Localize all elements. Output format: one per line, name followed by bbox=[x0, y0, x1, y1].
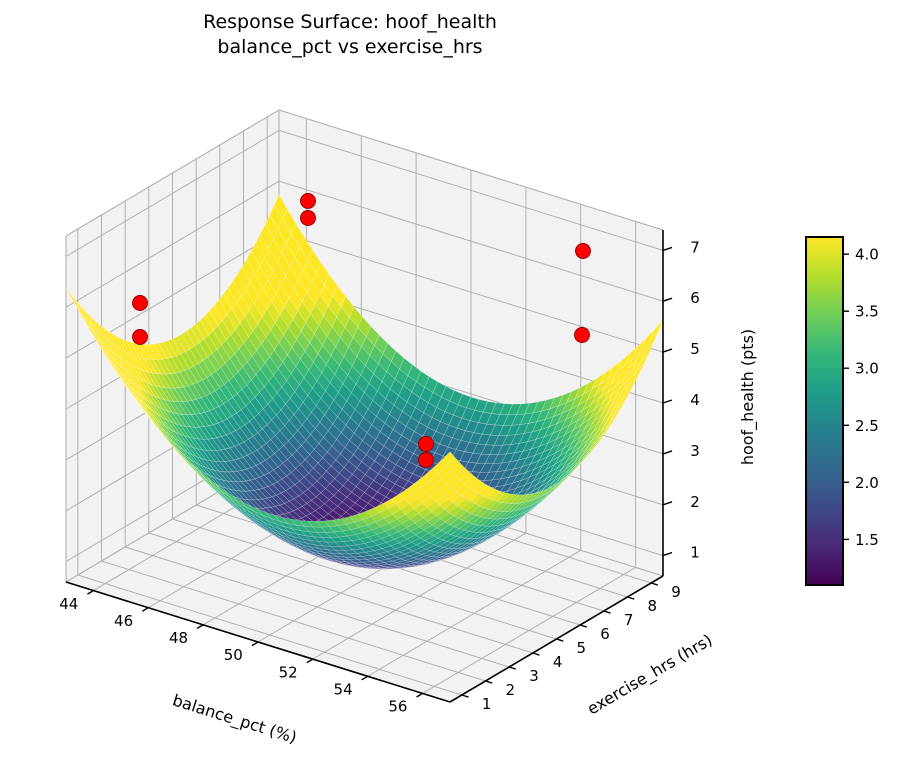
y-tick-label: 6 bbox=[600, 625, 610, 643]
y-tick-label: 2 bbox=[506, 681, 516, 699]
z-tick-label: 3 bbox=[690, 442, 700, 460]
x-tick-label: 46 bbox=[114, 612, 133, 630]
x-tick-label: 50 bbox=[224, 646, 243, 664]
z-tick bbox=[663, 502, 672, 505]
colorbar-tick-label: 2.5 bbox=[855, 417, 879, 435]
x-tick bbox=[417, 693, 423, 697]
scatter-point[interactable] bbox=[133, 330, 148, 345]
x-axis-label: balance_pct (%) bbox=[170, 690, 299, 748]
x-tick bbox=[307, 659, 313, 663]
y-tick-label: 4 bbox=[553, 653, 563, 671]
y-tick-label: 8 bbox=[648, 597, 658, 615]
scatter-point[interactable] bbox=[575, 328, 590, 343]
z-tick-label: 2 bbox=[690, 493, 700, 511]
x-tick bbox=[197, 625, 203, 629]
x-tick-label: 56 bbox=[388, 698, 407, 716]
x-tick-label: 44 bbox=[59, 595, 78, 613]
colorbar-tick-label: 3.5 bbox=[855, 303, 879, 321]
colorbar-tick-label: 4.0 bbox=[855, 246, 879, 264]
scatter-point[interactable] bbox=[419, 437, 434, 452]
scatter-point[interactable] bbox=[301, 211, 316, 226]
z-tick bbox=[663, 247, 672, 250]
y-tick bbox=[604, 611, 611, 613]
colorbar[interactable] bbox=[806, 237, 843, 585]
z-tick-label: 4 bbox=[690, 391, 700, 409]
y-tick bbox=[580, 625, 587, 627]
x-tick-label: 48 bbox=[169, 629, 188, 647]
colorbar-tick-label: 2.0 bbox=[855, 474, 879, 492]
y-axis-label: exercise_hrs (hrs) bbox=[584, 630, 716, 719]
colorbar-tick-label: 1.5 bbox=[855, 531, 879, 549]
z-tick bbox=[663, 298, 672, 301]
colorbar-tick-label: 3.0 bbox=[855, 360, 879, 378]
z-axis-label: hoof_health (pts) bbox=[738, 329, 758, 465]
scatter-point[interactable] bbox=[133, 296, 148, 311]
y-tick-label: 9 bbox=[671, 583, 681, 601]
y-tick bbox=[509, 667, 516, 669]
x-tick bbox=[362, 676, 368, 680]
y-tick-label: 1 bbox=[482, 695, 492, 713]
y-tick bbox=[533, 653, 540, 655]
z-tick bbox=[663, 553, 672, 556]
x-tick bbox=[142, 608, 148, 612]
x-tick bbox=[87, 591, 93, 595]
scatter-point[interactable] bbox=[419, 453, 434, 468]
y-tick-label: 7 bbox=[624, 611, 634, 629]
x-tick-label: 54 bbox=[334, 681, 353, 699]
scatter-point[interactable] bbox=[301, 194, 316, 209]
z-tick-label: 5 bbox=[690, 340, 700, 358]
y-tick bbox=[486, 681, 493, 683]
figure-canvas: Response Surface: hoof_health balance_pc… bbox=[0, 0, 902, 769]
z-tick bbox=[663, 400, 672, 403]
x-tick bbox=[252, 642, 258, 646]
z-tick-label: 1 bbox=[690, 544, 700, 562]
z-tick bbox=[663, 349, 672, 352]
x-tick-label: 52 bbox=[279, 663, 298, 681]
surface-plot-svg: 444648505254561234567891234567balance_pc… bbox=[0, 0, 902, 769]
z-tick-label: 6 bbox=[690, 289, 700, 307]
y-tick-label: 5 bbox=[577, 639, 587, 657]
y-tick bbox=[557, 639, 564, 641]
y-tick bbox=[651, 583, 658, 585]
y-tick-label: 3 bbox=[529, 667, 539, 685]
z-tick bbox=[663, 451, 672, 454]
z-tick-label: 7 bbox=[690, 238, 700, 256]
scatter-point[interactable] bbox=[576, 244, 591, 259]
y-tick bbox=[628, 597, 635, 599]
y-tick bbox=[462, 695, 469, 697]
